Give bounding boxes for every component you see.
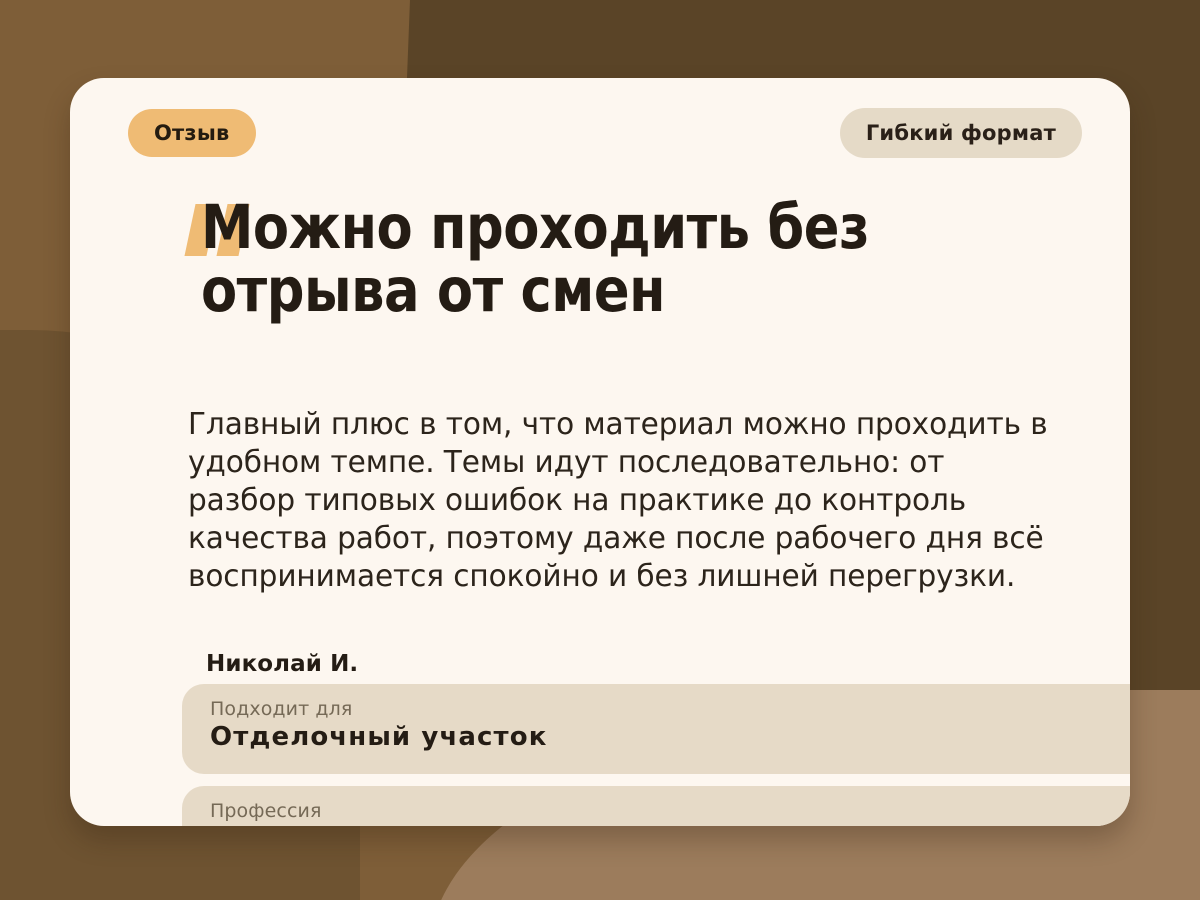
info-card-value: Монтажник по монтажу стальных и железобе…	[210, 824, 1130, 826]
badge-row: Отзыв Гибкий формат	[70, 108, 1130, 158]
headline-block: Можно проходить без отрыва от смен	[128, 196, 1058, 323]
review-body-text: Главный плюс в том, что материал можно п…	[188, 406, 1055, 596]
review-author-name: Николай И.	[206, 651, 358, 677]
info-card-label: Профессия	[210, 800, 1130, 822]
review-card: Отзыв Гибкий формат Можно проходить без …	[70, 78, 1130, 826]
review-card-slide: Отзыв Гибкий формат Можно проходить без …	[0, 0, 1200, 900]
info-card-profession: Профессия Монтажник по монтажу стальных …	[182, 786, 1130, 826]
page-title: Можно проходить без отрыва от смен	[128, 196, 1021, 323]
format-badge[interactable]: Гибкий формат	[840, 108, 1082, 158]
category-badge[interactable]: Отзыв	[128, 109, 256, 157]
info-card-suitable-for: Подходит для Отделочный участок	[182, 684, 1130, 774]
info-card-value: Отделочный участок	[210, 722, 1130, 752]
info-card-label: Подходит для	[210, 698, 1130, 720]
